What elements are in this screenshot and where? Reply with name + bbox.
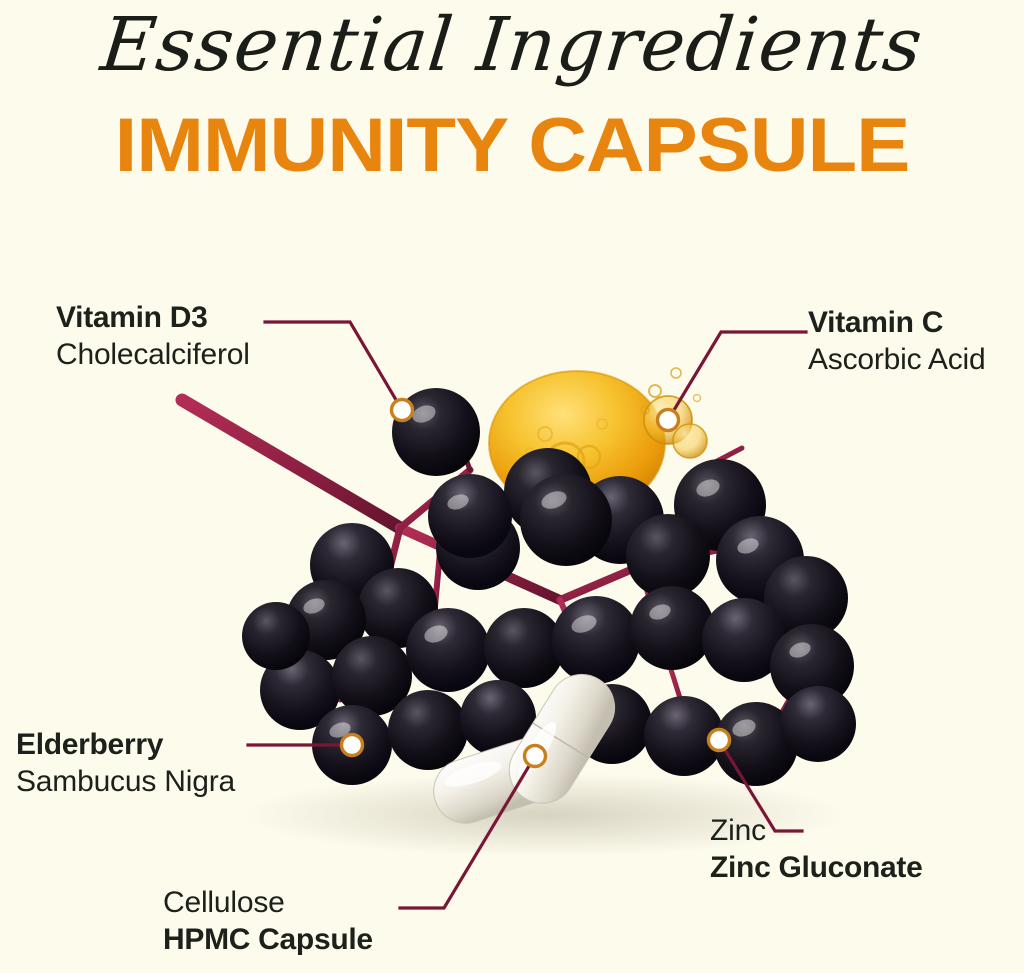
callout-name-elderberry: Elderberry	[16, 727, 235, 763]
callout-label-vitamin-d3: Vitamin D3 Cholecalciferol	[56, 300, 250, 374]
page-title: IMMUNITY CAPSULE	[0, 108, 1024, 184]
marker-elderberry[interactable]	[340, 733, 364, 757]
leader-cellulose	[400, 756, 535, 908]
callout-name-vitamin-c: Vitamin C	[808, 305, 985, 341]
callout-name-cellulose: Cellulose	[163, 884, 373, 922]
callout-name-zinc: Zinc	[710, 812, 923, 850]
callout-label-cellulose: Cellulose HPMC Capsule	[163, 884, 373, 958]
callout-name-vitamin-d3: Vitamin D3	[56, 300, 250, 336]
callout-scientific-vitamin-c: Ascorbic Acid	[808, 341, 985, 379]
leader-vitamin-c	[668, 332, 806, 420]
marker-cellulose[interactable]	[523, 744, 547, 768]
marker-vitamin-d3[interactable]	[390, 398, 414, 422]
marker-zinc[interactable]	[707, 728, 731, 752]
script-subtitle: Essential Ingredients	[0, 8, 1024, 82]
callout-scientific-vitamin-d3: Cholecalciferol	[56, 336, 250, 374]
callout-scientific-elderberry: Sambucus Nigra	[16, 763, 235, 801]
callout-scientific-cellulose: HPMC Capsule	[163, 922, 373, 958]
callout-scientific-zinc: Zinc Gluconate	[710, 850, 923, 886]
infographic-canvas: Essential Ingredients IMMUNITY CAPSULE V…	[0, 0, 1024, 973]
marker-vitamin-c[interactable]	[656, 408, 680, 432]
callout-label-elderberry: Elderberry Sambucus Nigra	[16, 727, 235, 801]
callout-label-zinc: Zinc Zinc Gluconate	[710, 812, 923, 886]
callout-label-vitamin-c: Vitamin C Ascorbic Acid	[808, 305, 985, 379]
callout-markers	[340, 398, 731, 768]
leader-vitamin-d3	[265, 322, 402, 410]
